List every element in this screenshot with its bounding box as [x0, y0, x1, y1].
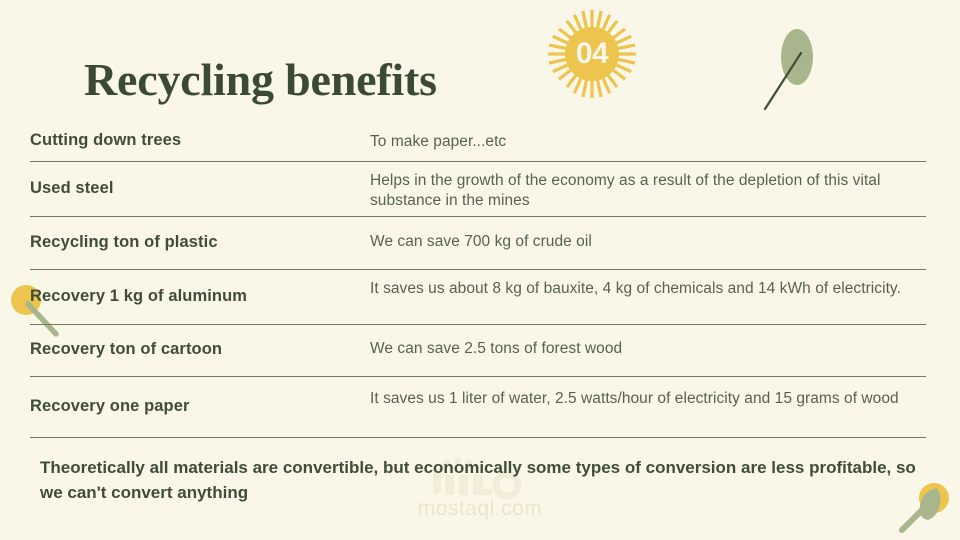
sunburst-badge: 04 [546, 8, 638, 100]
row-label: Recovery 1 kg of aluminum [30, 270, 370, 322]
conclusion-text: Theoretically all materials are converti… [40, 456, 920, 505]
row-description: We can save 2.5 tons of forest wood [370, 325, 926, 359]
table-row: Cutting down trees To make paper...etc [30, 122, 926, 162]
row-description: Helps in the growth of the economy as a … [370, 162, 926, 212]
leaf-icon [757, 25, 827, 115]
row-label: Recycling ton of plastic [30, 217, 370, 267]
table-row: Recovery ton of cartoon We can save 2.5 … [30, 325, 926, 377]
row-description: It saves us about 8 kg of bauxite, 4 kg … [370, 270, 926, 299]
slide-canvas: mostaql.com [0, 0, 960, 540]
table-row: Recycling ton of plastic We can save 700… [30, 217, 926, 270]
row-description: It saves us 1 liter of water, 2.5 watts/… [370, 377, 926, 409]
row-label: Cutting down trees [30, 122, 370, 162]
table-row: Recovery one paper It saves us 1 liter o… [30, 377, 926, 438]
benefits-table: Cutting down trees To make paper...etc U… [30, 122, 926, 438]
table-row: Used steel Helps in the growth of the ec… [30, 162, 926, 217]
row-label: Used steel [30, 162, 370, 214]
row-label: Recovery ton of cartoon [30, 325, 370, 374]
badge-number: 04 [546, 8, 638, 100]
row-description: To make paper...etc [370, 122, 926, 152]
table-row: Recovery 1 kg of aluminum It saves us ab… [30, 270, 926, 325]
page-title: Recycling benefits [84, 53, 437, 106]
row-label: Recovery one paper [30, 377, 370, 435]
row-description: We can save 700 kg of crude oil [370, 217, 926, 252]
